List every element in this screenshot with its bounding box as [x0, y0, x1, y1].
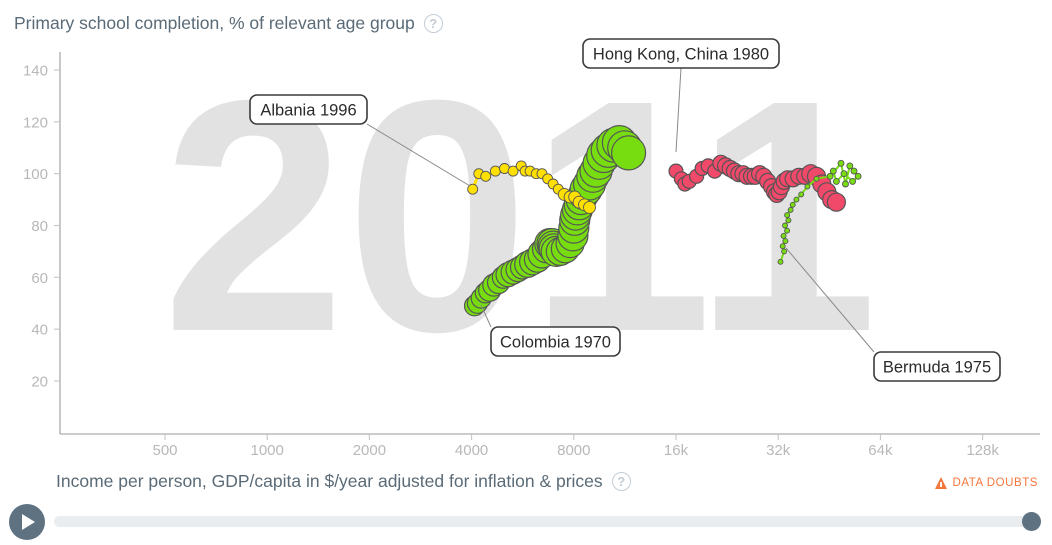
y-tick-label: 40: [31, 322, 48, 339]
bubble-marker[interactable]: [838, 160, 844, 166]
bubble-marker[interactable]: [785, 228, 790, 233]
bubble-marker[interactable]: [851, 168, 857, 174]
bubble-marker[interactable]: [612, 136, 646, 170]
x-tick-label: 1000: [251, 442, 284, 455]
bubble-marker[interactable]: [783, 239, 788, 244]
bubble-marker[interactable]: [843, 181, 849, 187]
data-doubts-badge[interactable]: DATA DOUBTS: [935, 477, 1039, 489]
y-tick-label: 20: [31, 374, 48, 391]
x-tick-label: 32k: [766, 442, 791, 455]
y-tick-label: 140: [23, 63, 48, 80]
bubble-marker[interactable]: [814, 176, 819, 181]
bubble-marker[interactable]: [841, 171, 847, 177]
x-tick-label: 500: [152, 442, 177, 455]
x-tick-label: 8000: [557, 442, 590, 455]
bubble-marker[interactable]: [786, 218, 791, 223]
bubble-marker[interactable]: [481, 171, 491, 181]
timeline-player: [0, 500, 1052, 545]
timeline-slider-handle[interactable]: [1022, 512, 1041, 531]
callout-label: Colombia 1970: [500, 334, 611, 352]
y-tick-label: 60: [31, 270, 48, 287]
warning-triangle-icon: [935, 477, 947, 489]
timeline-slider-track[interactable]: [54, 516, 1029, 527]
y-tick-label: 120: [23, 114, 48, 131]
bubble-marker[interactable]: [794, 197, 799, 202]
y-tick-label: 100: [23, 166, 48, 183]
data-doubts-label: DATA DOUBTS: [953, 477, 1039, 489]
x-tick-label: 2000: [353, 442, 386, 455]
bubble-marker[interactable]: [790, 202, 795, 207]
bubble-marker[interactable]: [584, 201, 596, 213]
x-axis-title[interactable]: Income per person, GDP/capita in $/year …: [56, 471, 631, 492]
callout-label: Hong Kong, China 1980: [593, 46, 769, 64]
play-button[interactable]: [9, 504, 45, 540]
bubble-marker[interactable]: [850, 178, 856, 184]
callout-label: Bermuda 1975: [883, 359, 991, 377]
x-tick-label: 64k: [868, 442, 893, 455]
bubble-marker[interactable]: [781, 233, 786, 238]
chart-canvas[interactable]: 2011204060801001201405001000200040008000…: [0, 30, 1052, 455]
bubble-marker[interactable]: [780, 244, 785, 249]
bubble-marker[interactable]: [847, 163, 853, 169]
bubble-marker[interactable]: [785, 213, 790, 218]
help-icon-x-axis[interactable]: ?: [612, 472, 631, 491]
gapminder-bubble-chart-app: Primary school completion, % of relevant…: [0, 0, 1052, 545]
y-axis-ticks: 20406080100120140: [23, 63, 60, 391]
bubble-marker[interactable]: [788, 207, 793, 212]
bubble-marker[interactable]: [827, 193, 845, 211]
x-axis-ticks: 500100020004000800016k32k64k128k: [152, 434, 999, 455]
bubble-marker[interactable]: [855, 173, 861, 179]
bubble-marker[interactable]: [805, 184, 810, 189]
x-tick-label: 4000: [455, 442, 488, 455]
bubble-marker[interactable]: [783, 223, 788, 228]
y-tick-label: 80: [31, 218, 48, 235]
bubble-marker[interactable]: [782, 249, 787, 254]
x-tick-label: 16k: [664, 442, 689, 455]
bubble-marker[interactable]: [778, 259, 783, 264]
bubble-marker[interactable]: [830, 168, 836, 174]
chart-plot-area[interactable]: 2011204060801001201405001000200040008000…: [0, 30, 1052, 455]
bubble-marker[interactable]: [490, 166, 500, 176]
x-tick-label: 128k: [966, 442, 999, 455]
play-icon: [22, 514, 35, 530]
x-axis-title-label: Income per person, GDP/capita in $/year …: [56, 471, 603, 492]
callout-label: Albania 1996: [260, 102, 356, 120]
bubble-marker[interactable]: [799, 192, 804, 197]
bubble-marker[interactable]: [833, 178, 839, 184]
